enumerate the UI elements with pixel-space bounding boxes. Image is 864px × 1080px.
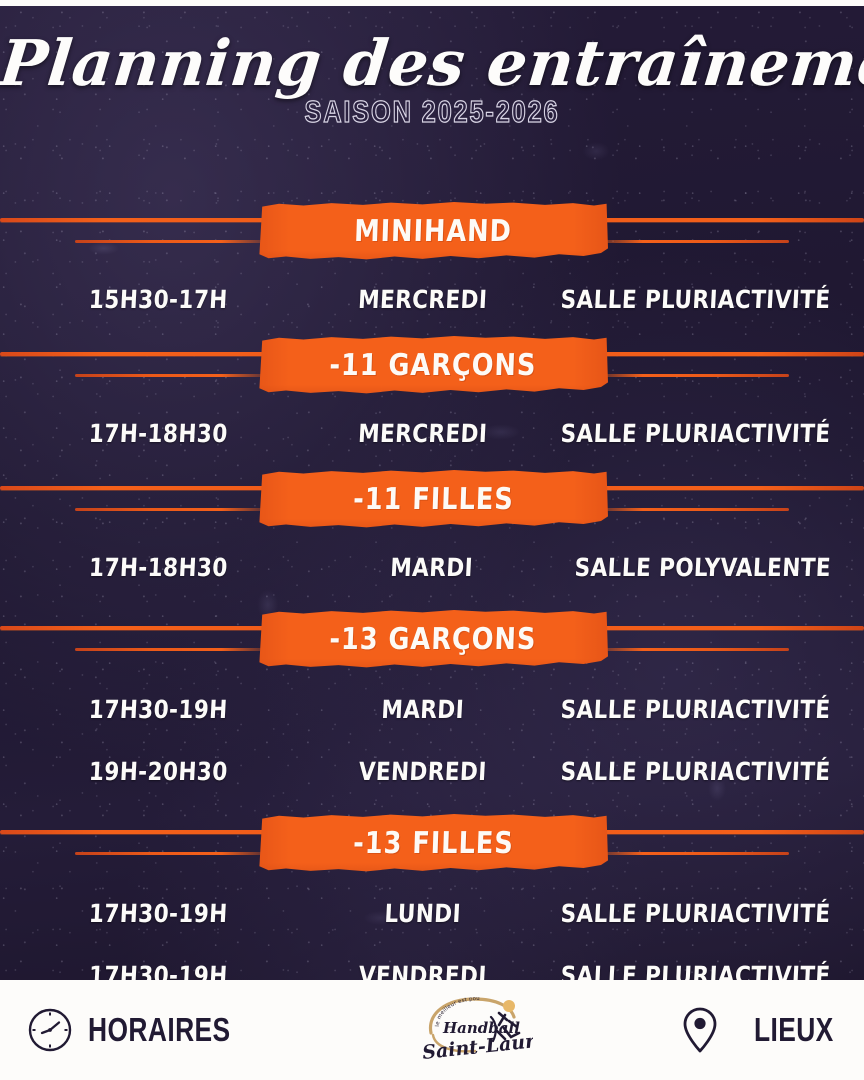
group-rows: 17H-18H30MERCREDISALLE PLURIACTIVITÉ bbox=[0, 402, 864, 464]
training-schedule-poster: Planning des entraînements SAISON 2025-2… bbox=[0, 0, 864, 1080]
brush-rule-short-left bbox=[75, 508, 270, 511]
row-place: SALLE PLURIACTIVITÉ bbox=[560, 695, 831, 724]
table-row: 19H-20H30VENDREDISALLE PLURIACTIVITÉ bbox=[0, 740, 864, 802]
club-logo-graphic: le meilleur est pour nous Handball Saint… bbox=[413, 987, 533, 1073]
location-pin-icon bbox=[680, 1005, 720, 1055]
group-banner-band: -13 FILLES bbox=[0, 808, 864, 880]
row-day: LUNDI bbox=[296, 899, 550, 928]
group-banner-label: -13 GARÇONS bbox=[329, 622, 537, 657]
schedule-group: -13 FILLES17H30-19HLUNDISALLE PLURIACTIV… bbox=[0, 808, 864, 1006]
table-row: 17H-18H30MERCREDISALLE PLURIACTIVITÉ bbox=[0, 402, 864, 464]
table-row: 15H30-17HMERCREDISALLE PLURIACTIVITÉ bbox=[0, 268, 864, 330]
group-rows: 17H-18H30MARDISALLE POLYVALENTE bbox=[0, 536, 864, 598]
torn-paper-edge bbox=[0, 0, 864, 6]
season-subtitle: SAISON 2025-2026 bbox=[78, 94, 786, 130]
row-time: 17H30-19H bbox=[33, 899, 287, 928]
poster-footer: HORAIRES le meilleur est pour nous bbox=[0, 980, 864, 1080]
schedule-list: MINIHAND15H30-17HMERCREDISALLE PLURIACTI… bbox=[0, 196, 864, 1006]
row-day: MARDI bbox=[302, 553, 562, 582]
group-banner: -13 FILLES bbox=[258, 814, 608, 872]
group-banner-label: MINIHAND bbox=[354, 214, 513, 249]
clock-icon bbox=[26, 1006, 74, 1054]
table-row: 17H30-19HMARDISALLE PLURIACTIVITÉ bbox=[0, 678, 864, 740]
brush-rule-short-right bbox=[594, 852, 789, 855]
group-banner-label: -11 FILLES bbox=[352, 482, 514, 517]
group-banner-band: -13 GARÇONS bbox=[0, 604, 864, 676]
poster-header: Planning des entraînements SAISON 2025-2… bbox=[0, 30, 864, 130]
row-day: MERCREDI bbox=[296, 419, 550, 448]
row-time: 19H-20H30 bbox=[33, 757, 287, 786]
group-rows: 15H30-17HMERCREDISALLE PLURIACTIVITÉ bbox=[0, 268, 864, 330]
club-logo: le meilleur est pour nous Handball Saint… bbox=[413, 987, 533, 1073]
group-banner-band: -11 GARÇONS bbox=[0, 330, 864, 402]
brush-rule-short-left bbox=[75, 374, 270, 377]
page-title: Planning des entraînements bbox=[0, 30, 864, 96]
group-banner: -11 FILLES bbox=[258, 470, 608, 528]
row-time: 17H30-19H bbox=[33, 695, 287, 724]
schedule-group: -11 GARÇONS17H-18H30MERCREDISALLE PLURIA… bbox=[0, 330, 864, 464]
group-banner: -13 GARÇONS bbox=[258, 610, 608, 668]
row-time: 17H-18H30 bbox=[33, 419, 287, 448]
row-time: 17H-18H30 bbox=[33, 553, 293, 582]
row-place: SALLE POLYVALENTE bbox=[571, 553, 831, 582]
footer-lieux: LIEUX bbox=[680, 1005, 834, 1055]
schedule-group: -11 FILLES17H-18H30MARDISALLE POLYVALENT… bbox=[0, 464, 864, 598]
brush-rule-short-right bbox=[594, 374, 789, 377]
footer-lieux-label: LIEUX bbox=[754, 1011, 834, 1049]
brush-rule-short-right bbox=[594, 240, 789, 243]
group-banner: -11 GARÇONS bbox=[258, 336, 608, 394]
footer-horaires: HORAIRES bbox=[26, 1006, 266, 1054]
brush-rule-short-left bbox=[75, 240, 270, 243]
schedule-group: MINIHAND15H30-17HMERCREDISALLE PLURIACTI… bbox=[0, 196, 864, 330]
footer-horaires-label: HORAIRES bbox=[88, 1011, 231, 1049]
brush-rule-short-right bbox=[594, 508, 789, 511]
row-day: MARDI bbox=[296, 695, 550, 724]
group-banner-label: -11 GARÇONS bbox=[329, 348, 537, 383]
row-day: VENDREDI bbox=[296, 757, 550, 786]
table-row: 17H-18H30MARDISALLE POLYVALENTE bbox=[0, 536, 864, 598]
row-place: SALLE PLURIACTIVITÉ bbox=[560, 285, 831, 314]
group-rows: 17H30-19HMARDISALLE PLURIACTIVITÉ19H-20H… bbox=[0, 676, 864, 802]
brush-rule-short-right bbox=[594, 648, 789, 651]
row-day: MERCREDI bbox=[296, 285, 550, 314]
schedule-group: -13 GARÇONS17H30-19HMARDISALLE PLURIACTI… bbox=[0, 604, 864, 802]
torn-edge-shape bbox=[0, 0, 864, 6]
table-row: 17H30-19HLUNDISALLE PLURIACTIVITÉ bbox=[0, 882, 864, 944]
brush-rule-short-left bbox=[75, 852, 270, 855]
group-banner-band: -11 FILLES bbox=[0, 464, 864, 536]
row-time: 15H30-17H bbox=[33, 285, 287, 314]
row-place: SALLE PLURIACTIVITÉ bbox=[560, 419, 831, 448]
group-banner-band: MINIHAND bbox=[0, 196, 864, 268]
row-place: SALLE PLURIACTIVITÉ bbox=[560, 899, 831, 928]
group-banner: MINIHAND bbox=[258, 202, 608, 260]
brush-rule-short-left bbox=[75, 648, 270, 651]
row-place: SALLE PLURIACTIVITÉ bbox=[560, 757, 831, 786]
group-banner-label: -13 FILLES bbox=[352, 826, 514, 861]
